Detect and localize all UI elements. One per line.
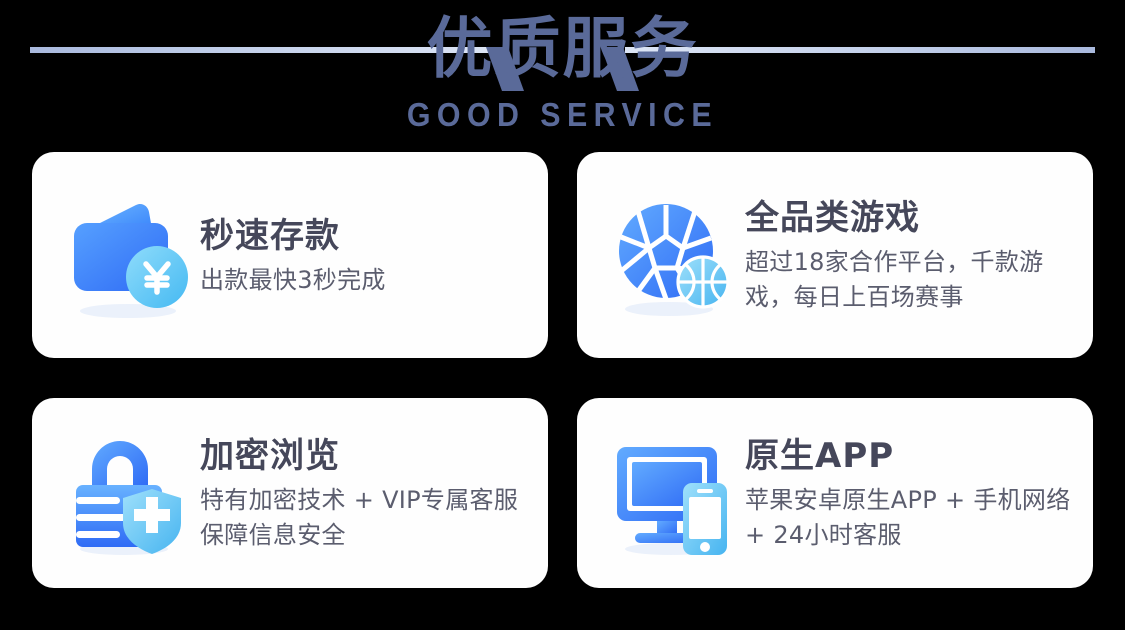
feature-card-deposit[interactable]: 秒速存款 出款最快3秒完成 bbox=[32, 152, 548, 358]
feature-card-games[interactable]: 全品类游戏 超过18家合作平台，千款游戏，每日上百场赛事 bbox=[577, 152, 1093, 358]
page-subtitle: GOOD SERVICE bbox=[45, 96, 1080, 134]
card-text-block: 全品类游戏 超过18家合作平台，千款游戏，每日上百场赛事 bbox=[745, 195, 1080, 315]
card-description: 特有加密技术 + VIP专属客服保障信息安全 bbox=[200, 483, 530, 553]
card-description: 出款最快3秒完成 bbox=[200, 263, 386, 298]
card-text-block: 原生APP 苹果安卓原生APP + 手机网络 + 24小时客服 bbox=[745, 433, 1080, 553]
card-title: 秒速存款 bbox=[200, 215, 386, 257]
card-description: 苹果安卓原生APP + 手机网络 + 24小时客服 bbox=[745, 483, 1080, 553]
sports-ball-icon bbox=[607, 189, 739, 321]
page-title: 优质服务 bbox=[0, 6, 1125, 92]
card-text-block: 秒速存款 出款最快3秒完成 bbox=[200, 213, 386, 298]
feature-card-native-app[interactable]: 原生APP 苹果安卓原生APP + 手机网络 + 24小时客服 bbox=[577, 398, 1093, 588]
card-title: 原生APP bbox=[745, 435, 1080, 477]
feature-card-grid: 秒速存款 出款最快3秒完成 bbox=[32, 152, 1093, 588]
card-title: 全品类游戏 bbox=[745, 197, 1080, 239]
card-description: 超过18家合作平台，千款游戏，每日上百场赛事 bbox=[745, 245, 1080, 315]
page-header: 优质服务 GOOD SERVICE bbox=[0, 0, 1125, 145]
card-text-block: 加密浏览 特有加密技术 + VIP专属客服保障信息安全 bbox=[200, 433, 530, 553]
wallet-icon bbox=[62, 189, 194, 321]
card-title: 加密浏览 bbox=[200, 435, 530, 477]
feature-card-encryption[interactable]: 加密浏览 特有加密技术 + VIP专属客服保障信息安全 bbox=[32, 398, 548, 588]
lock-shield-icon bbox=[62, 427, 194, 559]
monitor-phone-icon bbox=[607, 427, 739, 559]
